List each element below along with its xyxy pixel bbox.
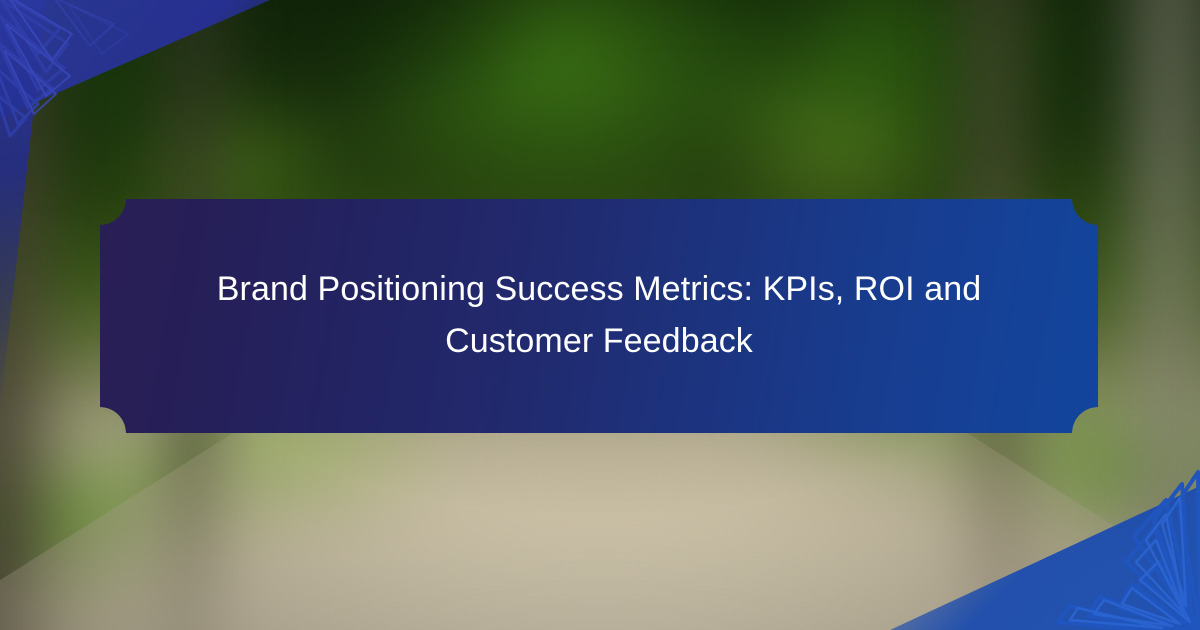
title-card: Brand Positioning Success Metrics: KPIs,… bbox=[100, 199, 1098, 433]
share-card-canvas: Brand Positioning Success Metrics: KPIs,… bbox=[0, 0, 1200, 630]
page-title: Brand Positioning Success Metrics: KPIs,… bbox=[209, 264, 989, 367]
title-card-content: Brand Positioning Success Metrics: KPIs,… bbox=[100, 199, 1098, 433]
title-card-container: Brand Positioning Success Metrics: KPIs,… bbox=[100, 199, 1098, 433]
